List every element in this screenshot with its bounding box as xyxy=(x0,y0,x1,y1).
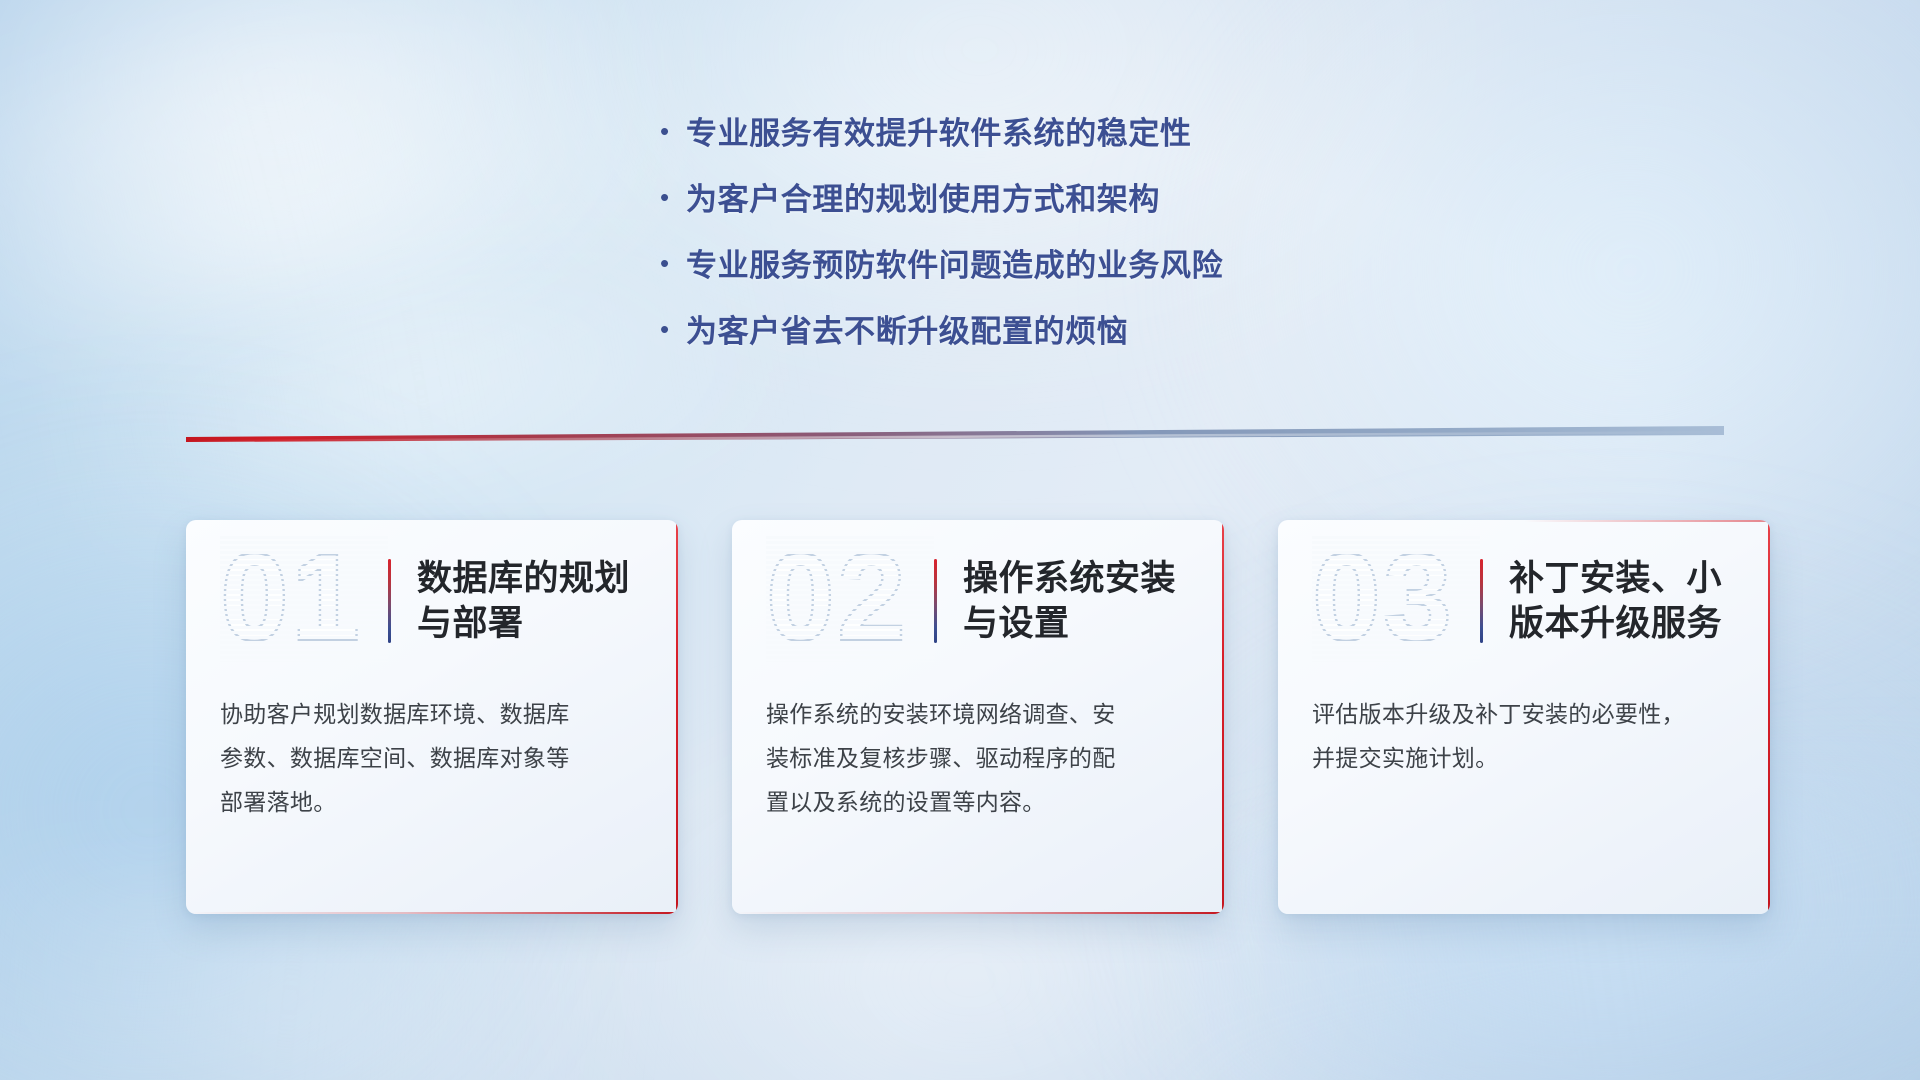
bullet-item-label: 为客户省去不断升级配置的烦恼 xyxy=(686,306,1128,351)
bullet-item: • 专业服务预防软件问题造成的业务风险 xyxy=(660,240,1223,285)
card-number-badge: 02 xyxy=(766,540,934,662)
card-number-badge: 01 xyxy=(220,540,388,662)
card-number-glyph: 02 xyxy=(766,536,908,660)
card-description: 操作系统的安装环境网络调查、安 装标准及复核步骤、驱动程序的配 置以及系统的设置… xyxy=(732,692,1224,824)
card-title: 补丁安装、小 版本升级服务 xyxy=(1509,556,1722,647)
bullet-item-label: 为客户合理的规划使用方式和架构 xyxy=(686,174,1160,219)
card-accent-rule xyxy=(1480,559,1483,643)
bullet-marker-icon: • xyxy=(660,184,686,210)
service-card-row: 01 数据库的规划 与部署 协助客户规划数据库环境、数据库 参数、数据库空间、数… xyxy=(186,520,1770,914)
card-number-badge: 03 xyxy=(1312,540,1480,662)
card-number-glyph: 01 xyxy=(220,536,362,660)
bullet-item: • 为客户合理的规划使用方式和架构 xyxy=(660,174,1223,219)
bullet-marker-icon: • xyxy=(660,118,686,144)
bullet-item-label: 专业服务有效提升软件系统的稳定性 xyxy=(686,108,1192,153)
benefits-bullet-list: • 专业服务有效提升软件系统的稳定性 • 为客户合理的规划使用方式和架构 • 专… xyxy=(660,108,1223,351)
service-card-03[interactable]: 03 补丁安装、小 版本升级服务 评估版本升级及补丁安装的必要性， 并提交实施计… xyxy=(1278,520,1770,914)
bullet-item: • 为客户省去不断升级配置的烦恼 xyxy=(660,306,1223,351)
card-header: 03 补丁安装、小 版本升级服务 xyxy=(1278,520,1770,682)
card-description: 评估版本升级及补丁安装的必要性， 并提交实施计划。 xyxy=(1278,692,1770,780)
card-title: 操作系统安装 与设置 xyxy=(963,556,1176,647)
card-title: 数据库的规划 与部署 xyxy=(417,556,630,647)
card-header: 01 数据库的规划 与部署 xyxy=(186,520,678,682)
service-card-02[interactable]: 02 操作系统安装 与设置 操作系统的安装环境网络调查、安 装标准及复核步骤、驱… xyxy=(732,520,1224,914)
card-description: 协助客户规划数据库环境、数据库 参数、数据库空间、数据库对象等 部署落地。 xyxy=(186,692,678,824)
card-number-glyph: 03 xyxy=(1312,536,1454,660)
bullet-item: • 专业服务有效提升软件系统的稳定性 xyxy=(660,108,1223,153)
card-accent-rule xyxy=(388,559,391,643)
section-divider xyxy=(186,426,1724,448)
card-accent-rule xyxy=(934,559,937,643)
bullet-marker-icon: • xyxy=(660,316,686,342)
bullet-item-label: 专业服务预防软件问题造成的业务风险 xyxy=(686,240,1223,285)
bullet-marker-icon: • xyxy=(660,250,686,276)
card-header: 02 操作系统安装 与设置 xyxy=(732,520,1224,682)
service-card-01[interactable]: 01 数据库的规划 与部署 协助客户规划数据库环境、数据库 参数、数据库空间、数… xyxy=(186,520,678,914)
